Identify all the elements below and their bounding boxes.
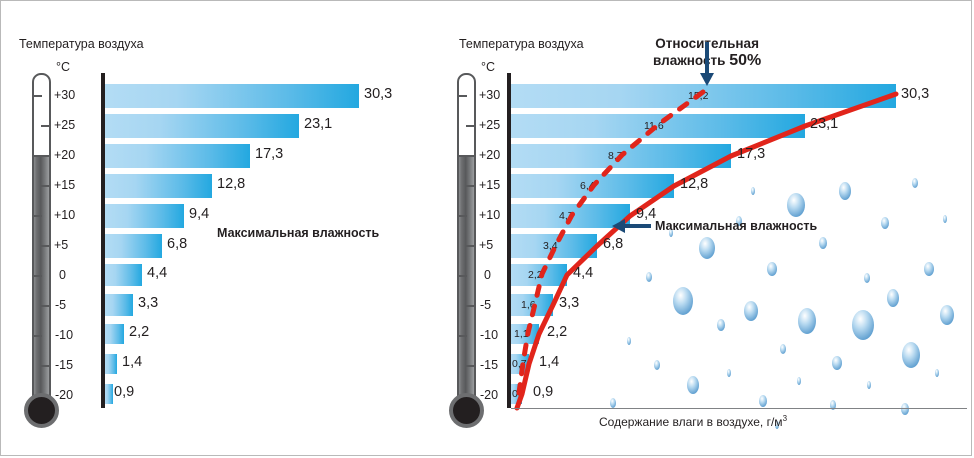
scale-label: +15 xyxy=(54,178,75,192)
bar-value: 4,4 xyxy=(573,265,593,281)
scale-label: -5 xyxy=(55,298,66,312)
thermometer-tick xyxy=(32,215,42,217)
scale-label: -5 xyxy=(480,298,491,312)
bar xyxy=(105,234,162,258)
x-axis-caption-text: Содержание влаги в воздухе, г/м xyxy=(599,415,783,429)
right-x-axis xyxy=(511,408,967,409)
bar-value: 0,9 xyxy=(114,384,134,400)
max-humidity-label: Максимальная влажность xyxy=(655,219,817,233)
scale-label: +25 xyxy=(54,118,75,132)
thermometer-tick xyxy=(41,125,51,127)
bar-value: 3,3 xyxy=(138,295,158,311)
scale-label: 0 xyxy=(59,268,66,282)
scale-label: -20 xyxy=(480,388,498,402)
x-axis-caption: Содержание влаги в воздухе, г/м3 xyxy=(599,414,787,429)
bar xyxy=(105,264,142,286)
scale-label: +10 xyxy=(479,208,500,222)
bar-value: 1,4 xyxy=(539,354,559,370)
scale-label: +5 xyxy=(54,238,68,252)
thermometer-tick xyxy=(466,185,476,187)
bar xyxy=(105,114,299,138)
bar xyxy=(105,324,124,344)
rh-line2: влажность xyxy=(653,53,725,68)
thermometer-tick xyxy=(466,125,476,127)
thermometer-tick xyxy=(32,155,42,157)
thermometer-tick xyxy=(457,335,467,337)
thermometer-tick xyxy=(457,275,467,277)
scale-label: -10 xyxy=(55,328,73,342)
scale-label: +25 xyxy=(479,118,500,132)
bar-value: 30,3 xyxy=(364,86,392,102)
scale-label: -10 xyxy=(480,328,498,342)
bar xyxy=(105,174,212,198)
thermometer-tick xyxy=(457,155,467,157)
thermometer-bulb xyxy=(24,393,59,428)
left-chart-panel: Температура воздуха °C +30 +25 +20 +15 +… xyxy=(1,1,441,457)
thermometer-tick xyxy=(41,365,51,367)
bar-value: 12,8 xyxy=(680,176,708,192)
max-humidity-label: Максимальная влажность xyxy=(217,226,379,240)
scale-label: +10 xyxy=(54,208,75,222)
scale-label: +20 xyxy=(479,148,500,162)
bar-value: 1,4 xyxy=(122,354,142,370)
infographic-frame: Температура воздуха °C +30 +25 +20 +15 +… xyxy=(0,0,972,456)
bar-value: 6,8 xyxy=(167,236,187,252)
bar xyxy=(105,144,250,168)
thermometer-tick xyxy=(41,305,51,307)
bar-value: 17,3 xyxy=(737,146,765,162)
scale-label: +5 xyxy=(479,238,493,252)
curve-overlay xyxy=(507,73,967,413)
bar-value: 2,2 xyxy=(129,324,149,340)
bar xyxy=(105,204,184,228)
scale-label: -20 xyxy=(55,388,73,402)
bar-value: 9,4 xyxy=(636,206,656,222)
bar-value: 2,2 xyxy=(547,324,567,340)
rh-value: 50% xyxy=(729,52,761,69)
left-plot-area: 30,3 23,1 17,3 12,8 9,4 6,8 4,4 3,3 2,2 … xyxy=(101,73,401,408)
scale-label: +20 xyxy=(54,148,75,162)
scale-label: +30 xyxy=(54,88,75,102)
scale-label: +15 xyxy=(479,178,500,192)
scale-label: -15 xyxy=(55,358,73,372)
right-chart-panel: Температура воздуха °C Относительная вла… xyxy=(441,1,973,457)
right-unit-label: °C xyxy=(481,60,495,74)
right-plot-area: 15,2 11,6 8,7 6,4 4,7 3,4 2,2 1,6 1,1 0,… xyxy=(507,73,967,413)
thermometer-tick xyxy=(457,215,467,217)
thermometer-tick xyxy=(466,365,476,367)
scale-label: +30 xyxy=(479,88,500,102)
bar-value: 3,3 xyxy=(559,295,579,311)
scale-label: 0 xyxy=(484,268,491,282)
bar-value: 23,1 xyxy=(810,116,838,132)
bar-value: 30,3 xyxy=(901,86,929,102)
right-panel-title: Температура воздуха xyxy=(459,37,584,51)
left-panel-title: Температура воздуха xyxy=(19,37,144,51)
bar xyxy=(105,294,133,316)
thermometer-tick xyxy=(41,245,51,247)
thermometer-tick xyxy=(32,95,42,97)
bar-value: 23,1 xyxy=(304,116,332,132)
bar xyxy=(105,84,359,108)
bar-value: 9,4 xyxy=(189,206,209,222)
bar-value: 0,9 xyxy=(533,384,553,400)
thermometer-tick xyxy=(41,185,51,187)
thermometer-tick xyxy=(466,245,476,247)
bar-value: 12,8 xyxy=(217,176,245,192)
thermometer-tick xyxy=(32,275,42,277)
thermometer-tick xyxy=(32,335,42,337)
bar-value: 6,8 xyxy=(603,236,623,252)
left-unit-label: °C xyxy=(56,60,70,74)
x-axis-caption-sup: 3 xyxy=(783,414,787,423)
bar-value: 17,3 xyxy=(255,146,283,162)
thermometer-tick xyxy=(466,305,476,307)
thermometer-tick xyxy=(457,95,467,97)
max-humidity-curve xyxy=(517,94,896,408)
bar xyxy=(105,384,113,404)
thermometer-bulb xyxy=(449,393,484,428)
bar xyxy=(105,354,117,374)
scale-label: -15 xyxy=(480,358,498,372)
bar-value: 4,4 xyxy=(147,265,167,281)
